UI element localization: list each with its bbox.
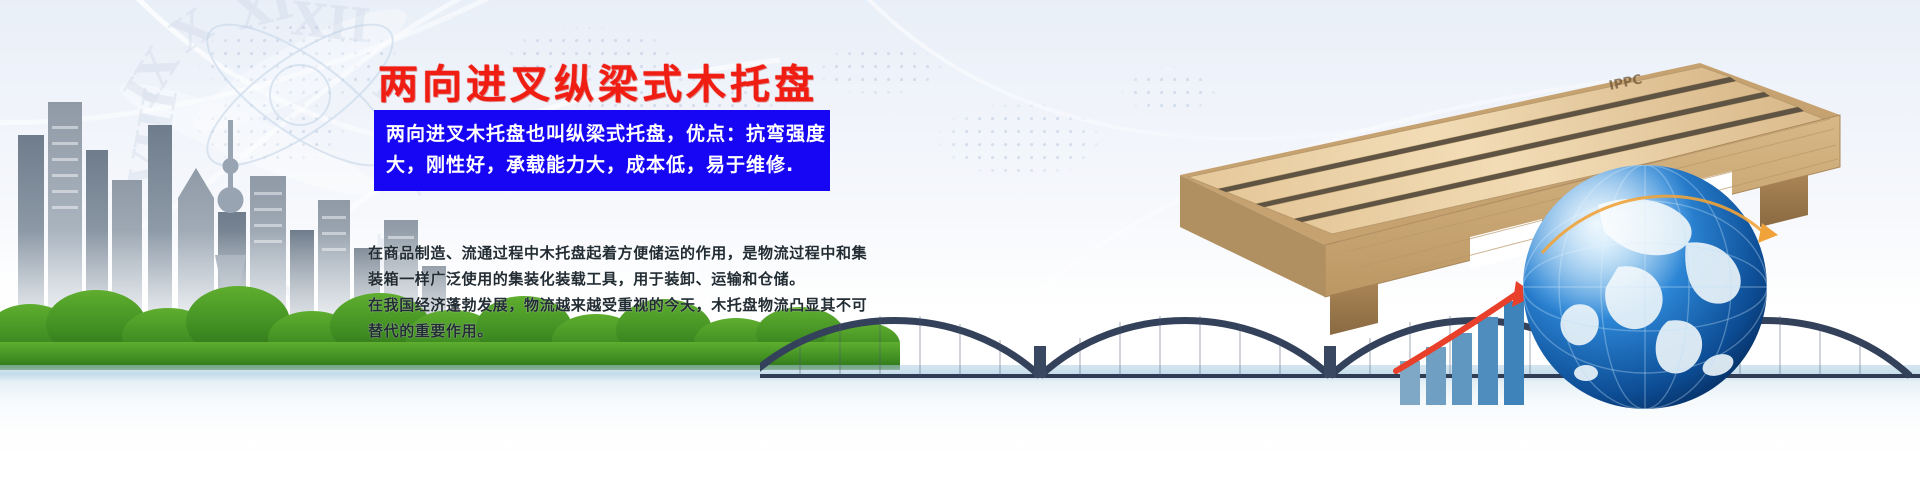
svg-text:XII: XII — [289, 0, 373, 53]
svg-text:XI: XI — [230, 0, 299, 41]
svg-text:IX: IX — [120, 38, 190, 115]
svg-text:VIII: VIII — [120, 84, 188, 193]
body-paragraph-1: 在商品制造、流通过程中木托盘起着方便储运的作用，是物流过程中和集装箱一样广泛使用… — [368, 240, 868, 292]
pallet-stamp-text: IPPC — [1608, 72, 1644, 94]
water-line — [0, 366, 1920, 382]
promo-banner: XII I II III VIII IX X XI IV — [0, 0, 1920, 500]
svg-text:IV: IV — [231, 263, 307, 301]
svg-text:X: X — [162, 0, 222, 63]
wooden-pallet-image: IPPC — [1140, 55, 1900, 355]
highlight-line-2: 大，刚性好，承载能力大，成本低，易于维修. — [386, 150, 820, 181]
water-reflection — [0, 365, 1920, 460]
page-title: 两向进叉纵梁式木托盘 — [378, 52, 818, 110]
truss-bridge — [760, 280, 1920, 390]
growth-chart-icon — [1390, 275, 1590, 405]
highlight-line-1: 两向进叉木托盘也叫纵梁式托盘，优点：抗弯强度 — [386, 119, 820, 150]
earth-globe-icon — [1490, 135, 1800, 445]
light-swoosh-icon — [0, 0, 1920, 330]
highlight-callout: 两向进叉木托盘也叫纵梁式托盘，优点：抗弯强度 大，刚性好，承载能力大，成本低，易… — [374, 110, 830, 191]
body-copy: 在商品制造、流通过程中木托盘起着方便储运的作用，是物流过程中和集装箱一样广泛使用… — [368, 240, 868, 344]
body-paragraph-2: 在我国经济蓬勃发展，物流越来越受重视的今天，木托盘物流凸显其不可替代的重要作用。 — [368, 292, 868, 344]
